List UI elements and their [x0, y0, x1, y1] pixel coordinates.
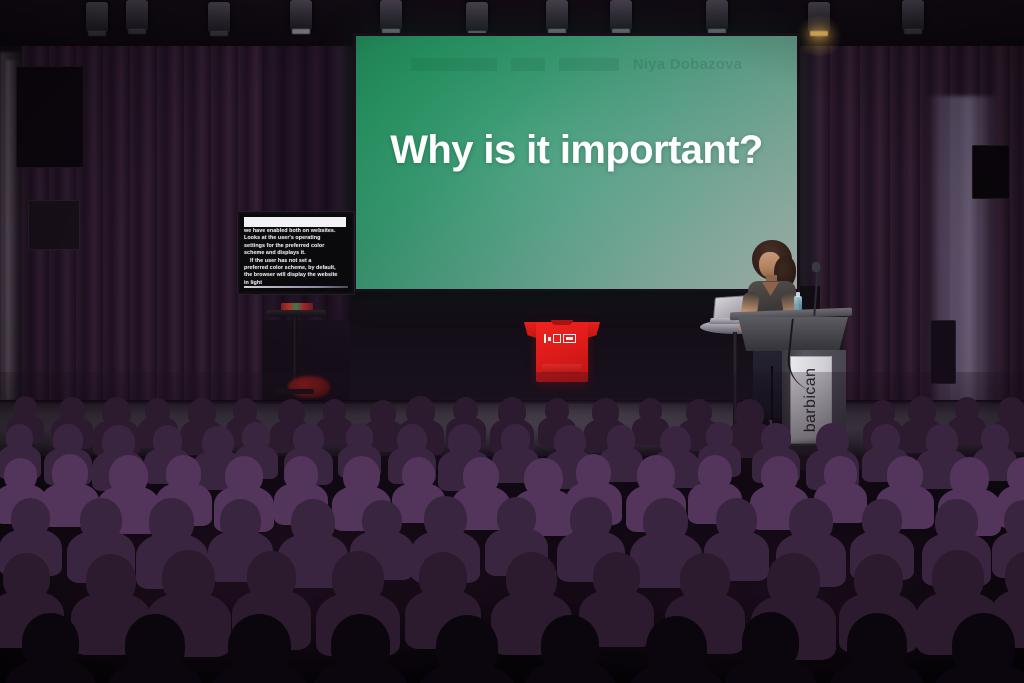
stage-light [126, 0, 148, 30]
caption-line: the browser will display the website [244, 272, 348, 279]
monitor-side-table [266, 310, 326, 317]
slide-speaker-name: Niya Dobazova [633, 56, 742, 73]
tshirt-logo-icon [544, 333, 580, 344]
backstage-equipment-upper-left [16, 66, 84, 168]
confidence-monitor-bezel: we have enabled both on websites.Looks a… [237, 211, 355, 295]
slide-header-block-3 [559, 58, 619, 71]
projection-screen: Niya Dobazova Why is it important? [356, 36, 797, 289]
stage-light [808, 2, 830, 32]
red-tshirt-display [524, 316, 600, 382]
monitor-table-base [276, 389, 314, 394]
tshirt-fold [542, 364, 582, 374]
stage-light [208, 2, 230, 32]
stage-light [466, 2, 488, 32]
wall-speaker-left [28, 200, 80, 250]
slide-title: Why is it important? [356, 128, 797, 173]
stage-light [290, 0, 312, 30]
slide-header-block-1 [411, 58, 497, 71]
caption-line: Looks at the user's operating [244, 235, 348, 242]
floor-monitor-right [930, 320, 956, 384]
projection-screen-frame: Niya Dobazova Why is it important? [353, 33, 800, 292]
confidence-monitor-screen: we have enabled both on websites.Looks a… [240, 214, 352, 292]
wall-speaker-right [972, 145, 1010, 199]
stage-light [610, 0, 632, 30]
tshirt-collar [551, 320, 573, 325]
stage-light [546, 0, 568, 30]
red-bag-on-floor [288, 376, 330, 398]
caption-line: scheme and displays it. [244, 250, 348, 257]
caption-progress-bar [244, 286, 348, 288]
confidence-monitor: we have enabled both on websites.Looks a… [237, 211, 355, 295]
slide-header: Niya Dobazova [356, 56, 797, 73]
caption-text: we have enabled both on websites.Looks a… [244, 228, 348, 287]
stage-light [86, 2, 108, 32]
microphone-icon [812, 262, 820, 272]
slide-header-block-2 [511, 58, 545, 71]
lectern-floor-shadow [770, 440, 862, 450]
stage-light [380, 0, 402, 30]
stage-photo-scene: Niya Dobazova Why is it important? we ha… [0, 0, 1024, 683]
stage-light [902, 0, 924, 30]
caption-line: If the user has not set a [244, 258, 348, 265]
stage-light [706, 0, 728, 30]
caption-highlight-bar [244, 217, 346, 227]
